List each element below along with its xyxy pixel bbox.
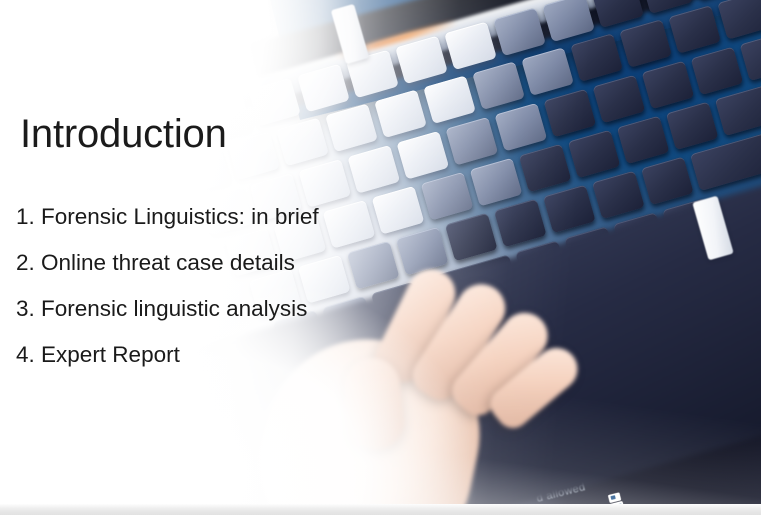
agenda-item-4-label: Expert Report bbox=[41, 342, 180, 367]
agenda-item-1-label: Forensic Linguistics: in brief bbox=[41, 204, 319, 229]
slide-content: Introduction 1. Forensic Linguistics: in… bbox=[0, 0, 761, 515]
agenda-item-3-number: 3. bbox=[16, 296, 35, 321]
agenda-item-4-number: 4. bbox=[16, 342, 35, 367]
slide-title: Introduction bbox=[20, 114, 227, 154]
agenda-item-2: 2. Online threat case details bbox=[16, 252, 319, 275]
agenda-list: 1. Forensic Linguistics: in brief 2. Onl… bbox=[16, 206, 319, 390]
agenda-item-3-label: Forensic linguistic analysis bbox=[41, 296, 307, 321]
agenda-item-2-number: 2. bbox=[16, 250, 35, 275]
agenda-item-2-label: Online threat case details bbox=[41, 250, 295, 275]
bottom-edge-strip bbox=[0, 504, 761, 515]
agenda-item-4: 4. Expert Report bbox=[16, 344, 319, 367]
agenda-item-1-number: 1. bbox=[16, 204, 35, 229]
agenda-item-3: 3. Forensic linguistic analysis bbox=[16, 298, 319, 321]
agenda-item-1: 1. Forensic Linguistics: in brief bbox=[16, 206, 319, 229]
presentation-slide: d allowed bbox=[0, 0, 761, 515]
